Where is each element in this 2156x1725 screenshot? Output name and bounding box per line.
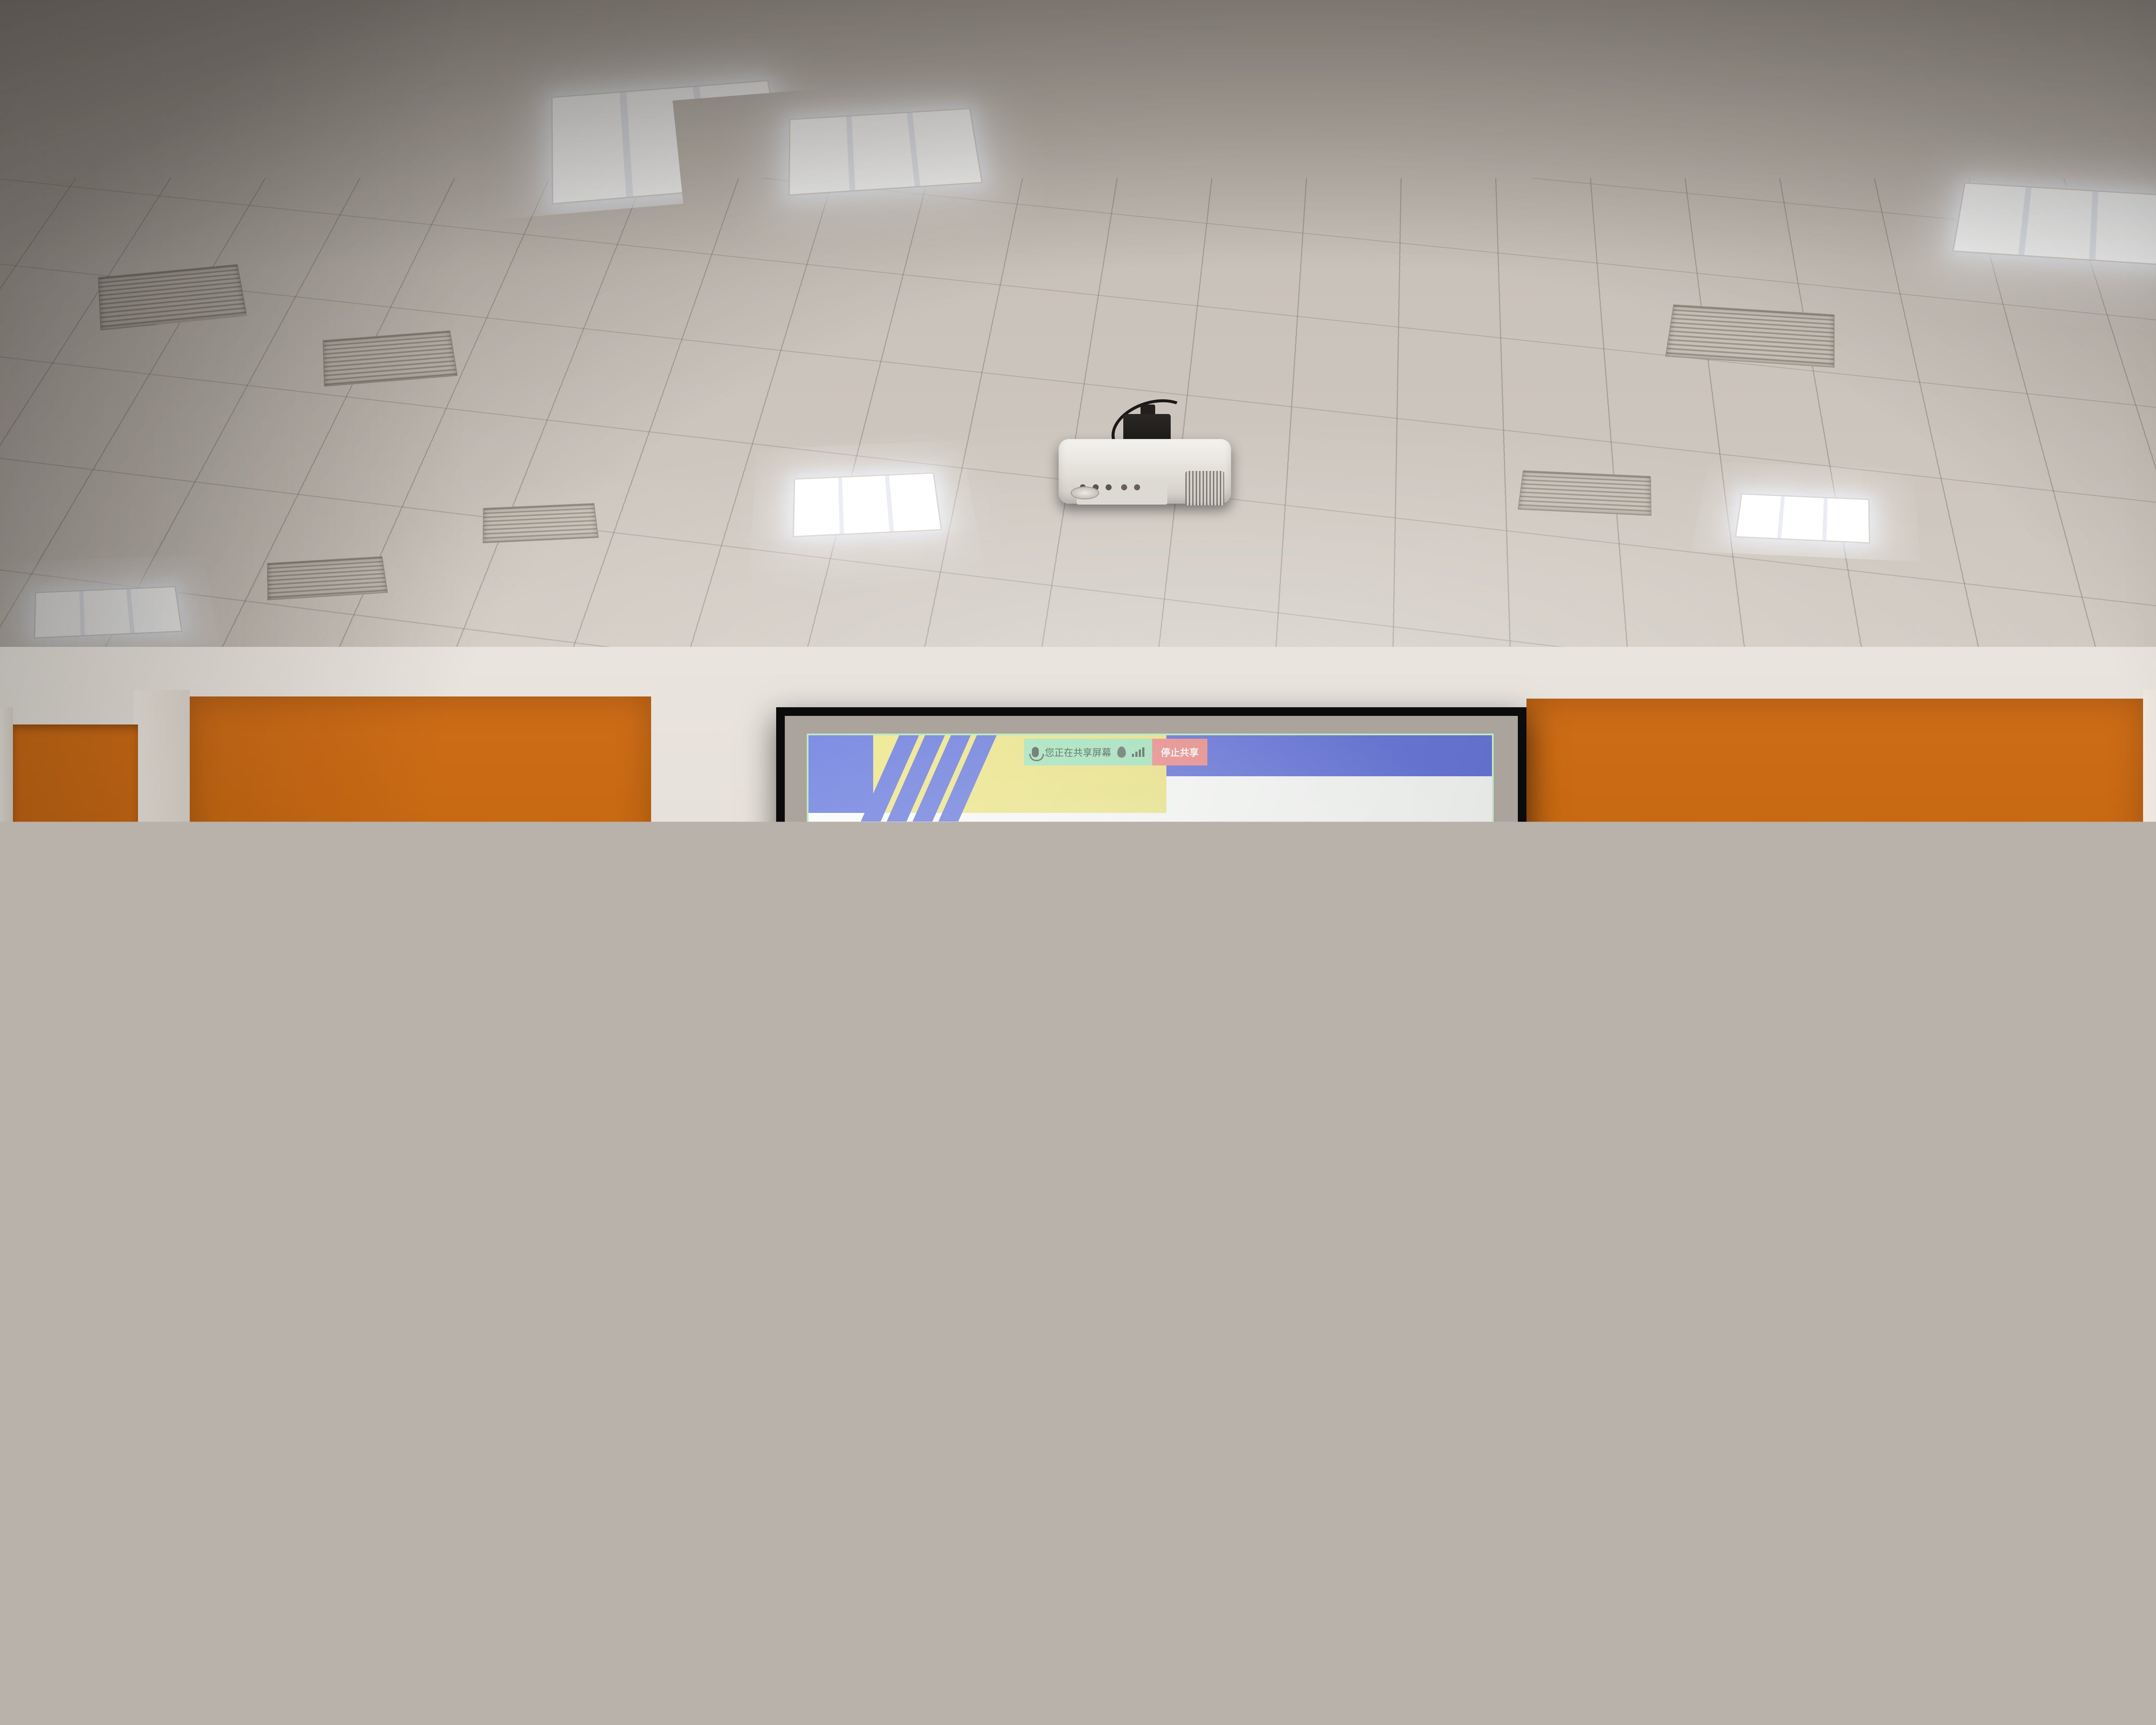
share-status-chip: 您正在共享屏幕 <box>1024 739 1152 765</box>
cell-content: 鼓励投资设立公司，放松资本管制 <box>1074 1132 1437 1169</box>
wireless-mouse[interactable] <box>1656 1257 1686 1276</box>
attendee-red-collar <box>2005 1244 2147 1281</box>
table-header-time: 时间 <box>859 1025 955 1059</box>
projector-body <box>1059 439 1231 504</box>
stop-sharing-button[interactable]: 停止共享 <box>1152 739 1207 765</box>
slide-decor-blue-block <box>808 735 873 813</box>
attendee-torso <box>2139 1574 2156 1725</box>
attendee-torso <box>229 1311 716 1725</box>
table-header-row: 时间 性质 内容 <box>859 1025 1437 1059</box>
slide-heading: 本次修改的基本情况： <box>859 841 1187 887</box>
attendee-seated-right <box>1703 1414 2091 1725</box>
projector-lens <box>1071 486 1099 499</box>
screen-share-toolbar[interactable]: 您正在共享屏幕 停止共享 <box>1024 739 1207 765</box>
slide-brand-cn: 君合律法 · 精耕志远 <box>1349 1200 1448 1214</box>
microphone-icon[interactable] <box>1032 747 1039 757</box>
attendee-head <box>940 1130 1065 1251</box>
cell-content: 根据国企改革的规则进行修改 <box>1074 1059 1437 1095</box>
ceiling <box>0 0 2156 707</box>
paper-sheet[interactable] <box>1604 1285 1785 1306</box>
slide-decor-blue-right <box>1166 735 1492 776</box>
location-pin-icon[interactable] <box>1117 746 1126 758</box>
ceiling-shading <box>0 0 2156 707</box>
ceiling-projector <box>1059 414 1240 517</box>
training-room-photo: 您正在共享屏幕 停止共享 正在说话: 宁波培训中心会议室 本次修改的基本情况： … <box>0 0 2156 1725</box>
currently-speaking-badge: 正在说话: 宁波培训中心会议室 <box>1343 828 1475 869</box>
attendee-head <box>354 1069 621 1345</box>
attendee-trousers <box>1755 1639 1996 1725</box>
attendee-right-foreground <box>2139 1276 2156 1725</box>
projector-vent-grille <box>1185 471 1224 505</box>
desk-leg <box>1587 1312 1600 1640</box>
attendee-foreground <box>229 1069 716 1725</box>
attendee-red-collar <box>13 1228 134 1262</box>
attendee-head <box>1996 1108 2152 1264</box>
table-header-nature: 性质 <box>955 1025 1074 1059</box>
attendee-torso <box>0 1337 164 1725</box>
share-status-label: 您正在共享屏幕 <box>1045 745 1111 759</box>
desk-leg <box>815 1596 832 1725</box>
attendee-left-edge <box>0 1337 164 1725</box>
slide-brand-en: HARNEST & GARNER <box>1198 1201 1334 1214</box>
signal-bars-icon <box>1132 747 1144 757</box>
attendee-torso <box>893 1238 1108 1479</box>
attendee-seated-center <box>888 1130 1112 1725</box>
stop-sharing-label: 停止共享 <box>1161 745 1199 759</box>
attendee-shoe <box>940 1682 1039 1725</box>
cell-content: 为适应企业发行股份市场化进行的修改 <box>1074 1095 1437 1132</box>
slide-brand-strip: HARNEST & GARNER 君合律法 · 精耕志远 <box>1184 1187 1492 1227</box>
attendee-head <box>17 1104 155 1246</box>
currently-speaking-label: 正在说话: 宁波培训中心会议室 <box>1350 843 1468 854</box>
table-header-content: 内容 <box>1074 1025 1437 1059</box>
slide-paragraph-line1: 我国现行公司法于1993年制定，2023年是公司法颁布30周年。 <box>859 928 1347 947</box>
attendee-jeans <box>927 1458 1074 1699</box>
